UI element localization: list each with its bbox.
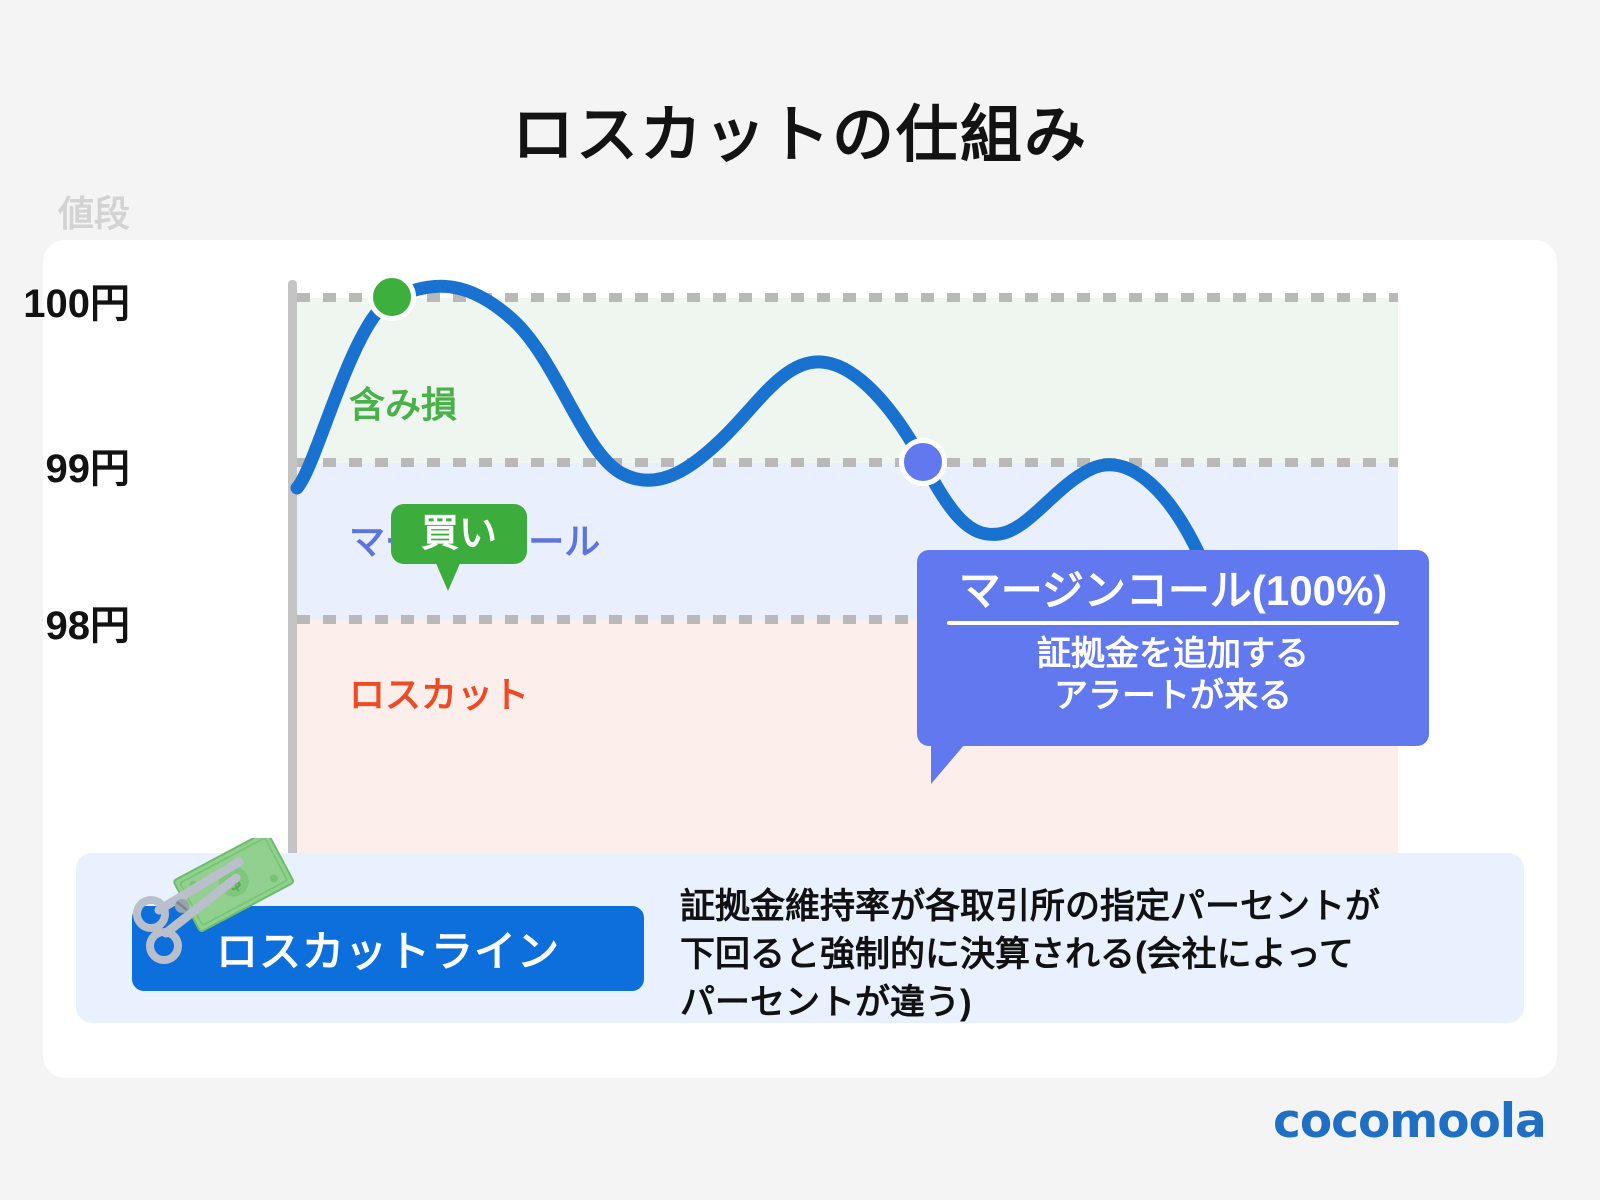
callout-margin-call: マージンコール(100%) 証拠金を追加する アラートが来る — [917, 550, 1429, 746]
callout-buy-tail — [435, 561, 461, 591]
callout-margin-call-body-1: 証拠金を追加する — [939, 633, 1407, 675]
bottom-description-line-1: 証拠金維持率が各取引所の指定パーセントが — [680, 883, 1490, 931]
chart-region: 値段 100円 99円 98円 含み損 マージンコール ロスカット 買い マージ… — [43, 240, 1557, 860]
y-tick-label-99: 99円 — [0, 436, 130, 494]
main-card: 値段 100円 99円 98円 含み損 マージンコール ロスカット 買い マージ… — [43, 240, 1557, 1078]
bottom-explanation-bar: ロスカットライン $ 証拠金維持率が各取引所の指定パーセントが — [76, 853, 1524, 1023]
callout-margin-call-tail — [931, 744, 965, 784]
page-title: ロスカットの仕組み — [0, 84, 1600, 174]
bottom-description: 証拠金維持率が各取引所の指定パーセントが 下回ると強制的に決算される(会社によっ… — [680, 883, 1490, 1027]
y-tick-label-98: 98円 — [0, 593, 130, 651]
callout-margin-call-body-2: アラートが来る — [939, 675, 1407, 717]
brand-logo: cocomoola — [1273, 1094, 1546, 1149]
bottom-description-line-2: 下回ると強制的に決算される(会社によって — [680, 931, 1490, 979]
money-with-scissors-icon: $ — [131, 838, 306, 968]
callout-buy-label: 買い — [421, 515, 497, 553]
marker-buy-point — [368, 273, 416, 321]
callout-buy: 買い — [391, 504, 527, 564]
callout-margin-call-heading: マージンコール(100%) — [939, 564, 1407, 618]
y-axis-caption: 値段 — [0, 185, 130, 237]
marker-margin-call-point — [899, 438, 947, 486]
y-tick-label-100: 100円 — [0, 271, 130, 329]
bottom-description-line-3: パーセントが違う) — [680, 979, 1490, 1027]
callout-margin-call-divider — [947, 621, 1399, 625]
